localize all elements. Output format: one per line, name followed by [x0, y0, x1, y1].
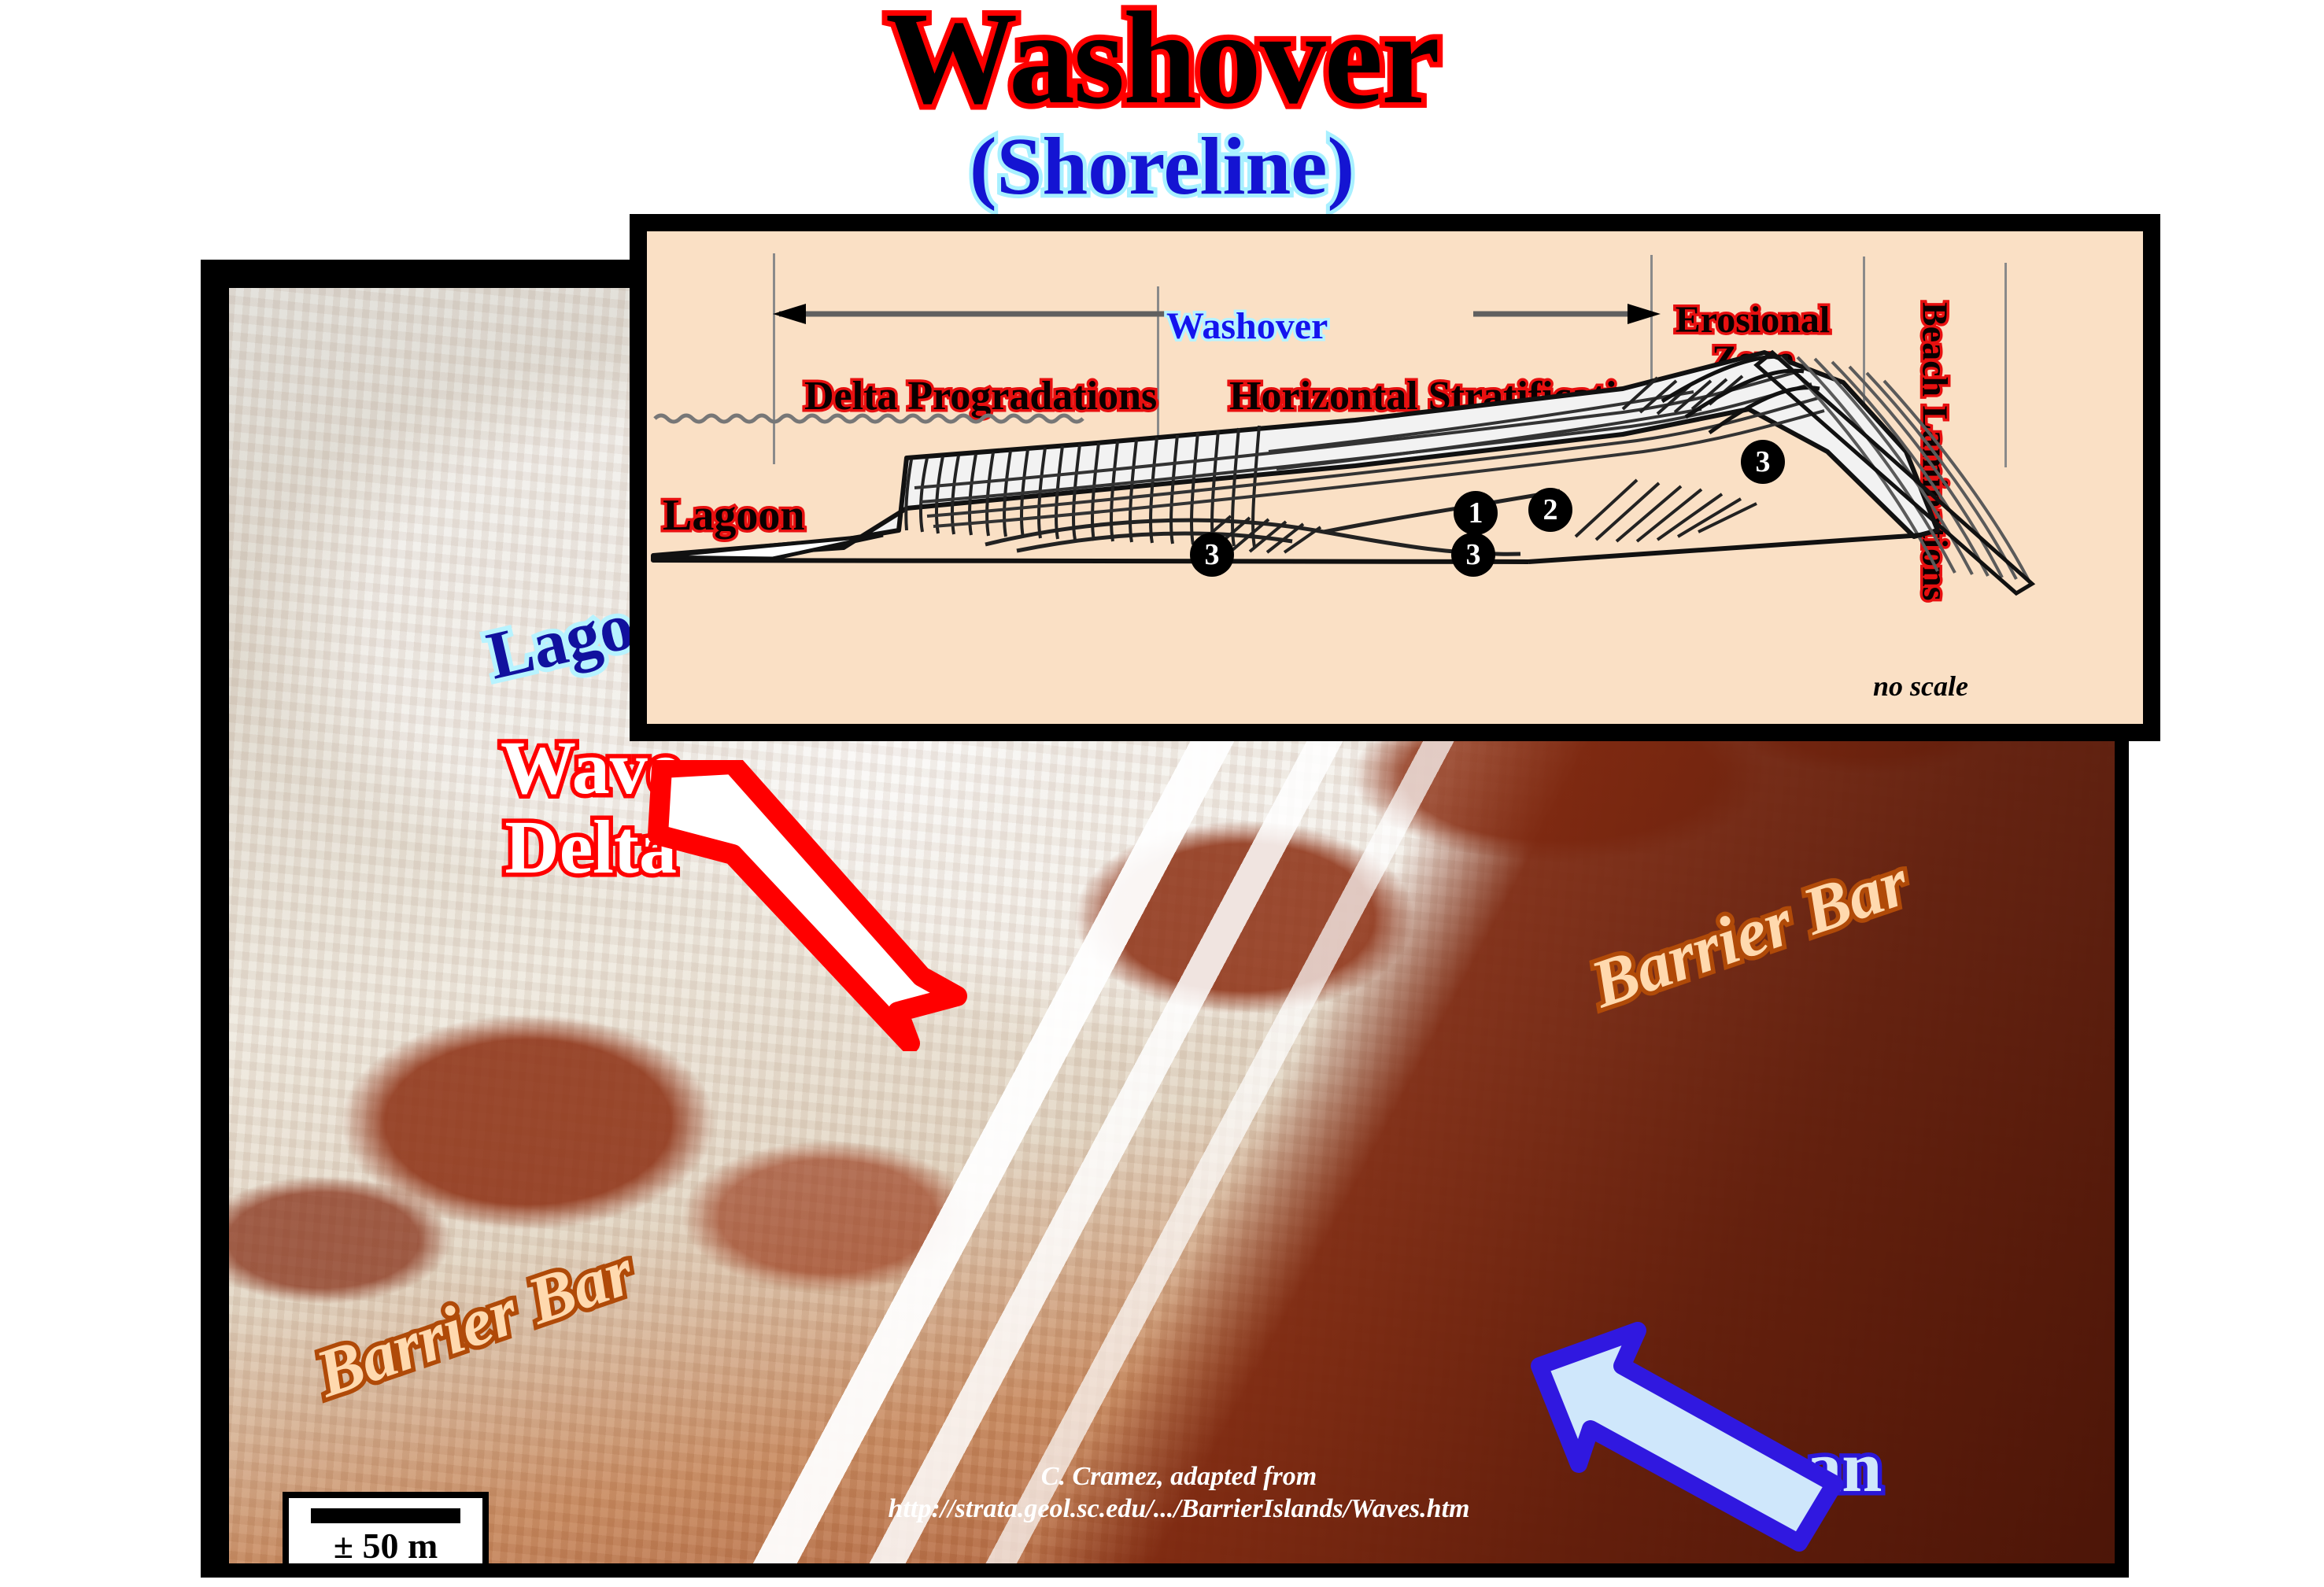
photo-label-barrier-bar-right: Barrier Bar: [1583, 846, 1917, 1020]
diagram-marker-2: 2: [1528, 488, 1572, 532]
diagram-marker-3c: 3: [1451, 533, 1495, 577]
diagram-marker-1: 1: [1454, 491, 1498, 535]
diagram-marker-3c-value: 3: [1466, 537, 1481, 572]
credit-line-1: C. Cramez, adapted from: [229, 1460, 2129, 1493]
page-title: Washover: [0, 0, 2324, 124]
wave-delta-arrow-icon: [638, 760, 969, 1051]
diagram-marker-3a: 3: [1741, 440, 1785, 484]
stratigraphy-drawing: [647, 334, 2143, 724]
credit-text: C. Cramez, adapted from http://strata.ge…: [229, 1460, 2129, 1526]
photo-label-barrier-bar-left: Barrier Bar: [308, 1235, 642, 1410]
washover-span-arrow-icon: [1473, 302, 1662, 326]
diagram-marker-3b-value: 3: [1205, 537, 1220, 572]
diagram-marker-1-value: 1: [1469, 496, 1483, 530]
diagram-marker-2-value: 2: [1543, 493, 1558, 527]
page-subtitle: (Shoreline): [0, 126, 2324, 208]
diagram-marker-3b: 3: [1190, 533, 1234, 577]
washover-cross-section-diagram: Delta Progradations Horizontal Stratific…: [630, 214, 2160, 741]
credit-line-2: http://strata.geol.sc.edu/.../BarrierIsl…: [229, 1493, 2129, 1525]
diagram-marker-3a-value: 3: [1756, 445, 1771, 479]
delta-span-arrow-icon: [771, 302, 1180, 326]
scale-bar-label: ± 50 m: [334, 1528, 438, 1564]
